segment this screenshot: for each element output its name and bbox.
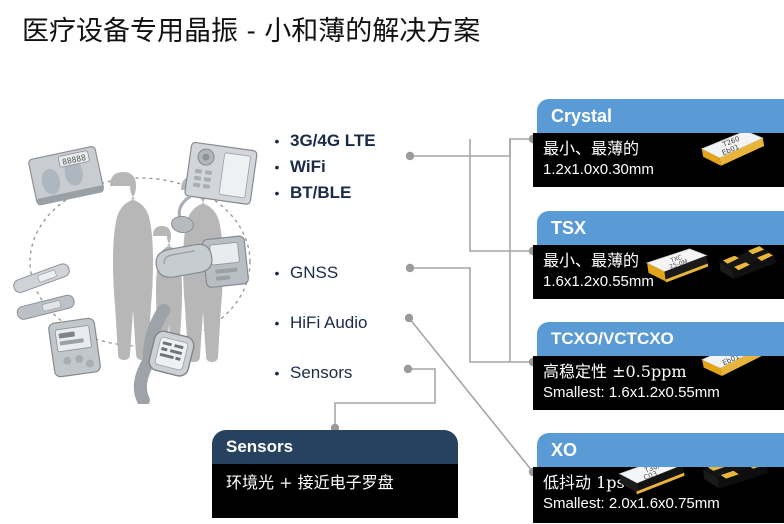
product-card-sensors[interactable]: Sensors 环境光 + 接近电子罗盘: [212, 430, 458, 518]
card-body-crystal: 最小、最薄的 1.2x1.0x0.30mm T260 Eb01: [533, 133, 784, 187]
body-scale-icon: 88888: [28, 146, 104, 206]
product-card-tsx[interactable]: TSX 最小、最薄的 1.6x1.2x0.55mm TXC 25-0M: [533, 211, 784, 299]
bullet-marker-icon: •: [272, 154, 282, 180]
crystal-chip-image: T260 Eb01: [694, 133, 772, 181]
bullet-group-other: • GNSS • HiFi Audio • Sensors: [272, 260, 442, 386]
bullet-item-gnss[interactable]: • GNSS: [272, 260, 442, 286]
bullet-label: BT/BLE: [290, 180, 351, 206]
family-devices-illustration: 88888: [6, 112, 274, 404]
glucose-meter-icon: [48, 318, 101, 378]
card-body-xo: 低抖动 1ps Smallest: 2.0x1.6x0.75mm T38A C0…: [533, 467, 784, 523]
bullet-item-wifi[interactable]: • WiFi: [272, 154, 442, 180]
bullet-item-bt-ble[interactable]: • BT/BLE: [272, 180, 442, 206]
tsx-chip-images: TXC 25-0M: [644, 245, 776, 297]
bullet-marker-icon: •: [272, 128, 282, 154]
card-body-tsx: 最小、最薄的 1.6x1.2x0.55mm TXC 25-0M: [533, 245, 784, 299]
card-body-sensors: 环境光 + 接近电子罗盘: [212, 464, 458, 518]
product-card-tcxo[interactable]: TCXO/VCTCXO 高稳定性 ±0.5ppm Smallest: 1.6x1…: [533, 322, 784, 410]
product-card-xo[interactable]: XO 低抖动 1ps Smallest: 2.0x1.6x0.75mm T38A…: [533, 433, 784, 523]
tcxo-chip-image: T260 Eb01: [694, 356, 774, 390]
slide-canvas: 医疗设备专用晶振 - 小和薄的解决方案 88888: [0, 0, 784, 524]
bullet-marker-icon: •: [272, 180, 282, 206]
bullet-item-hifi-audio[interactable]: • HiFi Audio: [272, 310, 442, 336]
page-title: 医疗设备专用晶振 - 小和薄的解决方案: [22, 14, 480, 50]
product-card-crystal[interactable]: Crystal 最小、最薄的 1.2x1.0x0.30mm T260 Eb01: [533, 99, 784, 187]
card-title-sensors: Sensors: [212, 430, 458, 464]
bullet-item-lte[interactable]: • 3G/4G LTE: [272, 128, 442, 154]
card-title-tcxo: TCXO/VCTCXO: [537, 322, 784, 356]
card-body-tcxo: 高稳定性 ±0.5ppm Smallest: 1.6x1.2x0.55mm T2…: [533, 356, 784, 410]
card-line-1: 环境光 + 接近电子罗盘: [212, 472, 458, 493]
bullet-marker-icon: •: [272, 310, 282, 336]
bullet-label: WiFi: [290, 154, 326, 180]
bullet-item-sensors[interactable]: • Sensors: [272, 360, 442, 386]
feature-bullet-list: • 3G/4G LTE • WiFi • BT/BLE • GNSS • HiF…: [272, 128, 442, 386]
xo-chip-images: T38A C03: [616, 467, 780, 513]
bullet-marker-icon: •: [272, 260, 282, 286]
bullet-label: GNSS: [290, 260, 338, 286]
bullet-label: 3G/4G LTE: [290, 128, 376, 154]
card-title-xo: XO: [537, 433, 784, 467]
card-title-crystal: Crystal: [537, 99, 784, 133]
bullet-label: Sensors: [290, 360, 352, 386]
card-title-tsx: TSX: [537, 211, 784, 245]
bullet-label: HiFi Audio: [290, 310, 367, 336]
thermometer-icon: [16, 294, 75, 321]
thermometer-icon: [12, 262, 71, 294]
bullet-group-wireless: • 3G/4G LTE • WiFi • BT/BLE: [272, 128, 442, 206]
bullet-marker-icon: •: [272, 360, 282, 386]
connector-wireless-to-tsx: [470, 139, 533, 251]
